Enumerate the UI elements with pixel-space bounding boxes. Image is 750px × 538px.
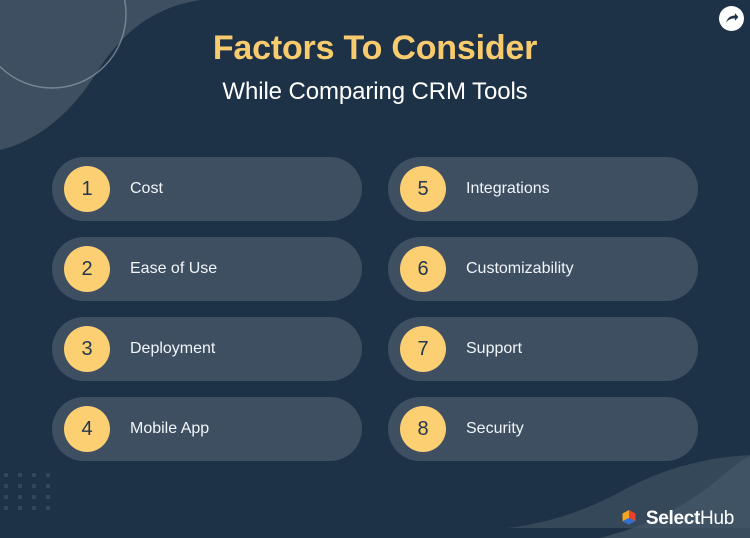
list-item[interactable]: 2 Ease of Use: [52, 237, 362, 301]
list-item[interactable]: 8 Security: [388, 397, 698, 461]
item-number-badge: 7: [400, 326, 446, 372]
dot-grid: [4, 473, 50, 510]
share-arrow-icon: [725, 12, 739, 26]
logo-text: SelectHub: [646, 509, 734, 528]
item-label: Deployment: [130, 341, 215, 357]
item-number-badge: 6: [400, 246, 446, 292]
list-item[interactable]: 5 Integrations: [388, 157, 698, 221]
logo-name-bold: Select: [646, 508, 700, 529]
list-item[interactable]: 1 Cost: [52, 157, 362, 221]
infographic-canvas: Factors To Consider While Comparing CRM …: [0, 0, 750, 538]
item-label: Integrations: [466, 181, 550, 197]
list-item[interactable]: 7 Support: [388, 317, 698, 381]
list-item[interactable]: 4 Mobile App: [52, 397, 362, 461]
page-subtitle: While Comparing CRM Tools: [0, 79, 750, 105]
item-label: Security: [466, 421, 524, 437]
list-item[interactable]: 6 Customizability: [388, 237, 698, 301]
cube-icon: [619, 508, 639, 528]
item-number-badge: 3: [64, 326, 110, 372]
item-label: Support: [466, 341, 522, 357]
item-label: Mobile App: [130, 421, 209, 437]
header: Factors To Consider While Comparing CRM …: [0, 30, 750, 106]
item-number-badge: 8: [400, 406, 446, 452]
item-label: Customizability: [466, 261, 574, 277]
item-number-badge: 4: [64, 406, 110, 452]
selecthub-logo[interactable]: SelectHub: [619, 508, 734, 528]
share-button[interactable]: [719, 6, 744, 31]
logo-name-light: Hub: [700, 508, 734, 529]
page-title: Factors To Consider: [0, 30, 750, 67]
factors-grid: 1 Cost 5 Integrations 2 Ease of Use 6 Cu…: [52, 157, 698, 461]
item-number-badge: 2: [64, 246, 110, 292]
item-label: Cost: [130, 181, 163, 197]
list-item[interactable]: 3 Deployment: [52, 317, 362, 381]
item-number-badge: 5: [400, 166, 446, 212]
item-number-badge: 1: [64, 166, 110, 212]
item-label: Ease of Use: [130, 261, 217, 277]
